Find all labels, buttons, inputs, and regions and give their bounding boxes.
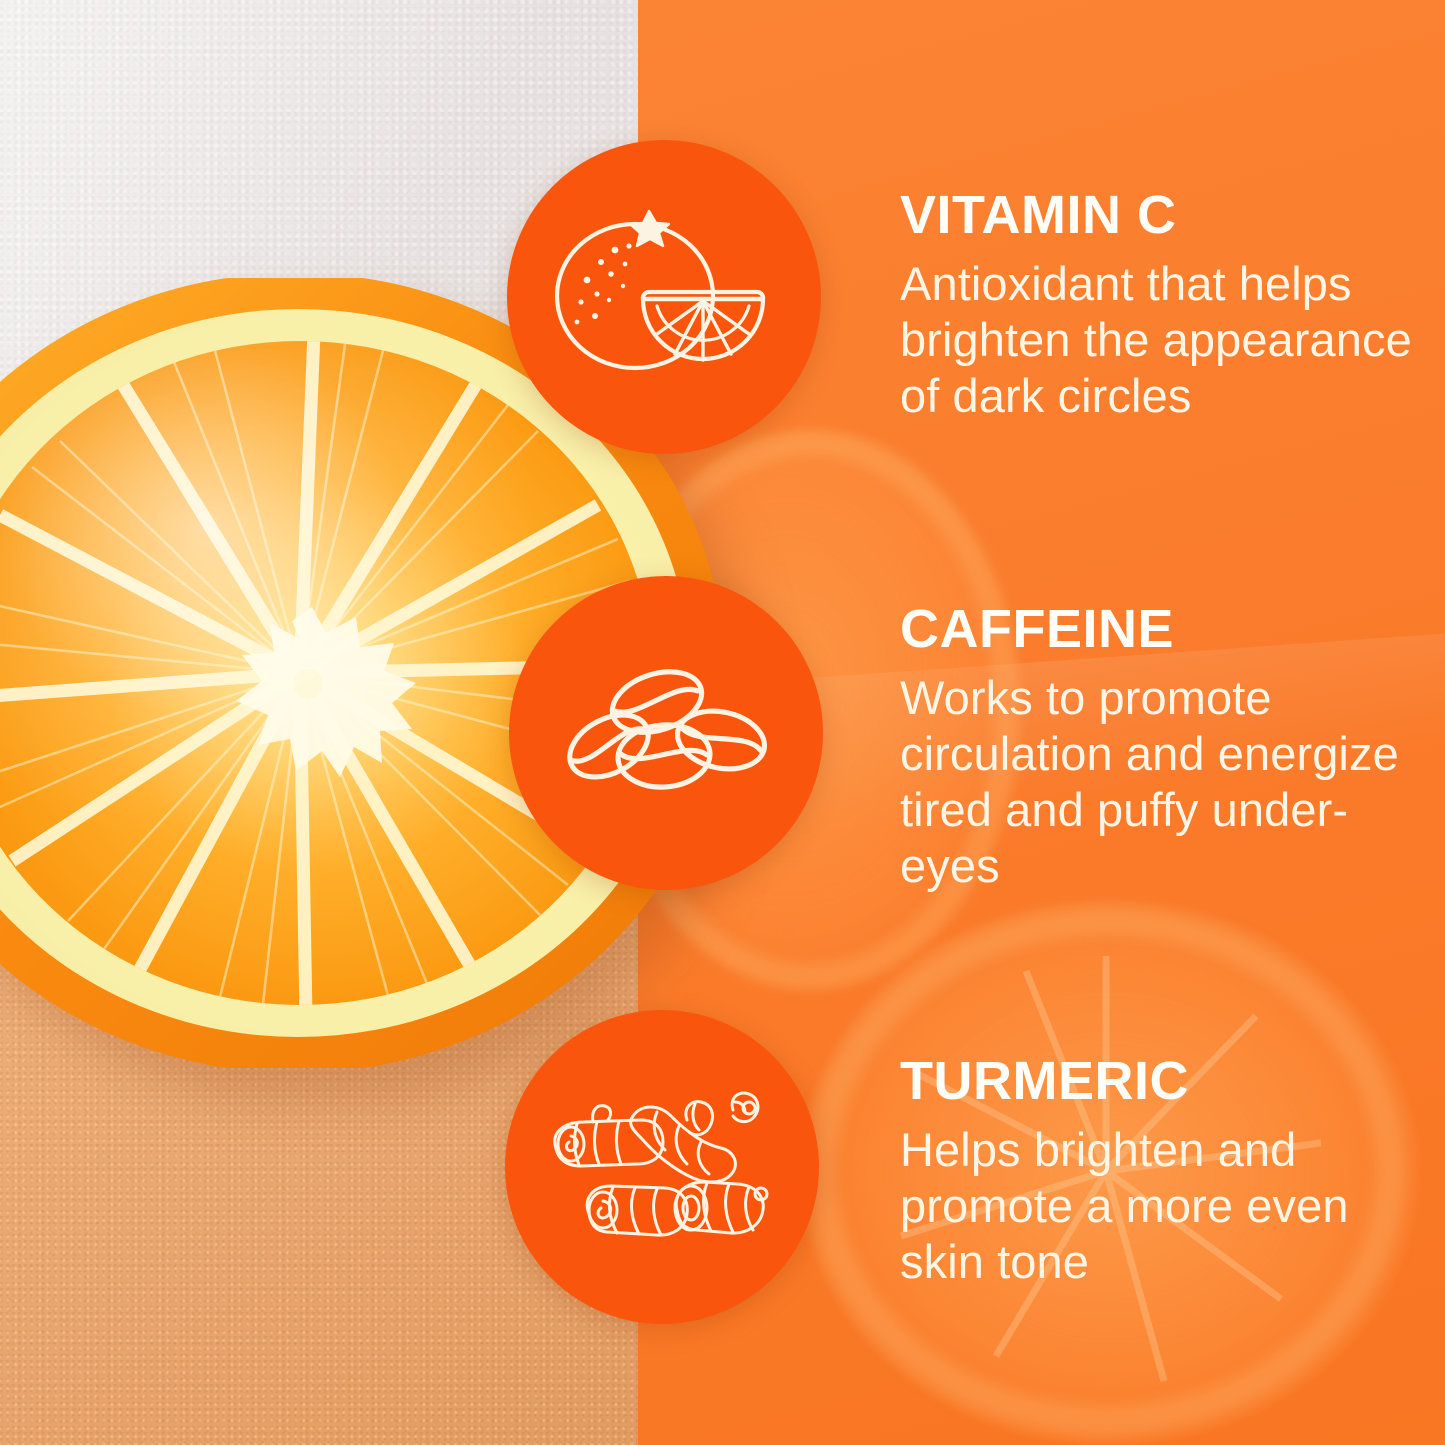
badge-turmeric[interactable] [505, 1010, 819, 1324]
ingredient-description: Helps brighten and promote a more even s… [900, 1122, 1420, 1290]
ingredient-description: Works to promote circulation and energiz… [900, 670, 1420, 894]
ingredient-panel-turmeric: TURMERIC Helps brighten and promote a mo… [900, 1052, 1420, 1290]
turmeric-root-icon [537, 1082, 787, 1252]
coffee-beans-icon [561, 658, 771, 808]
ingredient-title: CAFFEINE [900, 600, 1420, 658]
ingredient-panel-vitamin-c: VITAMIN C Antioxidant that helps brighte… [900, 186, 1420, 424]
badge-vitamin-c[interactable] [507, 140, 821, 454]
badge-caffeine[interactable] [509, 576, 823, 890]
orange-fruit-icon [539, 202, 789, 392]
ingredient-panel-caffeine: CAFFEINE Works to promote circulation an… [900, 600, 1420, 894]
ingredient-description: Antioxidant that helps brighten the appe… [900, 256, 1420, 424]
infographic-canvas: VITAMIN C Antioxidant that helps brighte… [0, 0, 1445, 1445]
ingredient-title: VITAMIN C [900, 186, 1420, 244]
ingredient-title: TURMERIC [900, 1052, 1420, 1110]
